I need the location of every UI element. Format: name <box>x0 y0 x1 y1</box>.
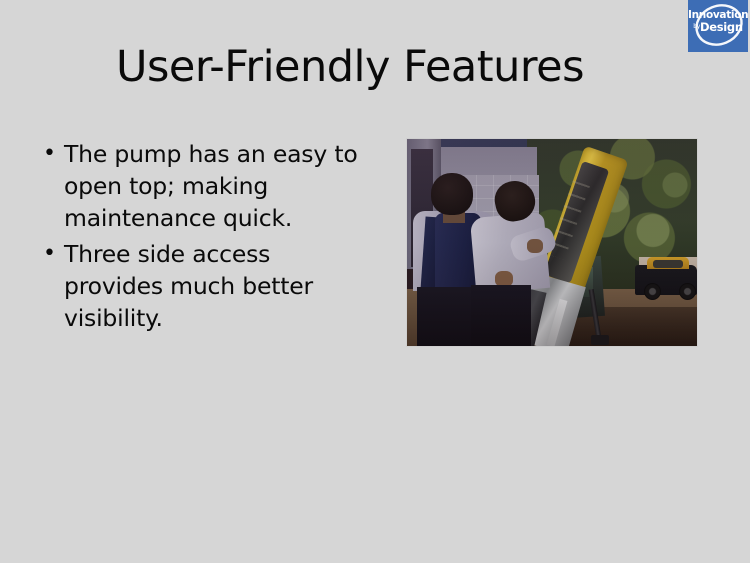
logo-wordmark: Innovation byDesign <box>688 10 748 33</box>
slide-canvas: Innovation byDesign User-Friendly Featur… <box>0 0 750 563</box>
bullet-text: The pump has an easy to open top; making… <box>64 138 368 234</box>
logo-by-word: by <box>693 23 700 30</box>
photo-taxi-wheel-front <box>644 283 661 300</box>
photo-pump-foot <box>591 335 609 345</box>
logo-design-word: Design <box>700 20 743 34</box>
photo-taxi-wheel-rear <box>679 283 696 300</box>
photo-technician-left-head <box>431 173 473 215</box>
bullet-list: • The pump has an easy to open top; maki… <box>38 138 368 338</box>
bullet-text: Three side access provides much better v… <box>64 238 368 334</box>
photo-canvas <box>407 139 697 346</box>
list-item: • Three side access provides much better… <box>38 238 368 334</box>
bullet-marker-icon: • <box>38 138 64 170</box>
bullet-marker-icon: • <box>38 238 64 270</box>
logo-line-design: byDesign <box>688 22 748 34</box>
photo-technician-right-trousers <box>471 285 531 346</box>
list-item: • The pump has an easy to open top; maki… <box>38 138 368 234</box>
photo-taxi-window <box>653 260 683 268</box>
fuel-pump-servicing-photo <box>406 138 698 347</box>
photo-technician-right-hand <box>527 239 543 253</box>
slide-title: User-Friendly Features <box>0 42 700 92</box>
